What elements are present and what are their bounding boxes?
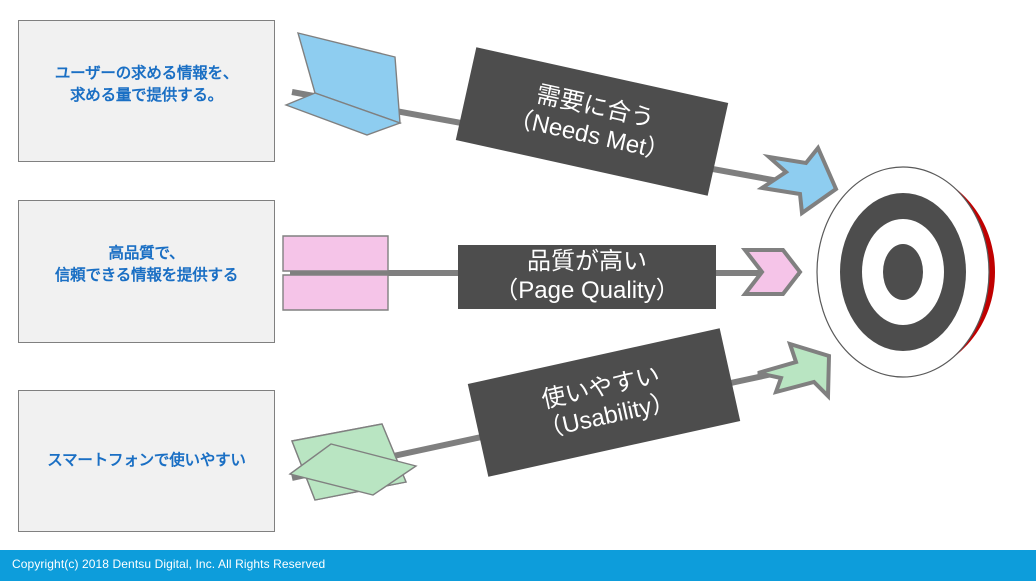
arrow-needs-met-fletching-lower [286, 93, 400, 135]
label-box-page-quality[interactable]: 品質が高い （Page Quality） [458, 245, 716, 309]
target-ring-white [862, 219, 944, 325]
arrow-page-quality-head [745, 250, 800, 294]
copyright-text: Copyright(c) 2018 Dentsu Digital, Inc. A… [12, 557, 325, 571]
arrow-needs-met-fletching-upper [298, 33, 400, 123]
target-face [817, 167, 989, 377]
arrow-needs-met-head [762, 148, 836, 213]
label-box-needs-met[interactable]: 需要に合う （Needs Met） [456, 47, 728, 196]
arrow-usability-fletching-upper [292, 424, 406, 500]
statement-text: 高品質で、 信頼できる情報を提供する [55, 243, 238, 288]
target-shadow [905, 167, 995, 377]
arrow-page-quality-fletching-lower [283, 275, 388, 310]
label-text: 需要に合う （Needs Met） [506, 76, 679, 168]
statement-text: ユーザーの求める情報を、 求める量で提供する。 [55, 63, 238, 108]
target-bullseye-center [883, 244, 923, 300]
arrow-page-quality-fletching-upper [283, 236, 388, 271]
arrow-usability-head [758, 344, 829, 396]
label-box-usability[interactable]: 使いやすい （Usability） [468, 328, 740, 477]
statement-box-page-quality[interactable]: 高品質で、 信頼できる情報を提供する [18, 200, 275, 343]
arrow-usability-fletching-lower [292, 424, 406, 500]
statement-text: スマートフォンで使いやすい [47, 450, 245, 472]
bullseye-target [817, 167, 995, 377]
arrow-usability-fletching-back [290, 444, 416, 495]
footer-bar: Copyright(c) 2018 Dentsu Digital, Inc. A… [0, 550, 1036, 581]
slide-canvas: ユーザーの求める情報を、 求める量で提供する。 高品質で、 信頼できる情報を提供… [0, 0, 1036, 581]
statement-box-needs-met[interactable]: ユーザーの求める情報を、 求める量で提供する。 [18, 20, 275, 162]
target-ring-outer [840, 193, 966, 351]
label-text: 使いやすい （Usability） [530, 359, 678, 445]
statement-box-usability[interactable]: スマートフォンで使いやすい [18, 390, 275, 532]
label-text: 品質が高い （Page Quality） [494, 248, 679, 306]
